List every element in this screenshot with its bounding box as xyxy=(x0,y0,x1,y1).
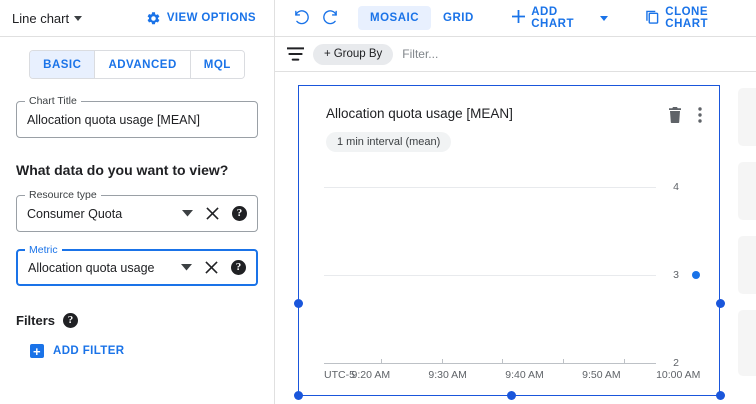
dashboard-area: MOSAIC GRID ADD CHART CLONE CHART xyxy=(275,0,756,404)
chart-plot-area: 4 3 2 UTC-5 9:20 AM xyxy=(299,167,719,367)
x-axis-label-0: 9:20 AM xyxy=(352,369,391,381)
chart-card-header: Allocation quota usage [MEAN] xyxy=(299,86,719,123)
x-axis-label-2: 9:40 AM xyxy=(505,369,544,381)
x-axis-label-1: 9:30 AM xyxy=(428,369,467,381)
chart-title-input[interactable]: Allocation quota usage [MEAN] xyxy=(27,113,247,127)
metric-field-wrap: Metric Allocation quota usage ? xyxy=(0,249,274,286)
add-chart-label: ADD CHART xyxy=(531,6,594,30)
x-tick-mark xyxy=(502,359,503,363)
resource-type-icons: ? xyxy=(182,206,247,221)
gridline-3 xyxy=(324,275,656,276)
y-axis-tick-3: 3 xyxy=(673,269,679,281)
resource-type-label: Resource type xyxy=(25,189,101,201)
data-question-heading: What data do you want to view? xyxy=(0,162,274,178)
gridline-4 xyxy=(324,187,656,188)
resize-handle-bottom-left[interactable] xyxy=(294,391,303,400)
plus-icon: + xyxy=(30,344,44,358)
chart-card-title: Allocation quota usage [MEAN] xyxy=(326,106,668,121)
trash-icon[interactable] xyxy=(668,107,682,123)
help-icon[interactable]: ? xyxy=(231,260,246,275)
editor-panel-header: Line chart VIEW OPTIONS xyxy=(0,0,274,37)
tab-mql[interactable]: MQL xyxy=(191,51,244,78)
chart-title-field-wrap: Chart Title Allocation quota usage [MEAN… xyxy=(0,101,274,138)
resize-handle-bottom-right[interactable] xyxy=(716,391,725,400)
plus-icon xyxy=(512,10,525,26)
chevron-down-icon[interactable] xyxy=(182,210,193,217)
undo-icon[interactable] xyxy=(289,4,314,32)
filters-section-header: Filters ? xyxy=(0,313,274,328)
metric-label: Metric xyxy=(25,244,62,256)
offscreen-card xyxy=(738,88,756,146)
close-icon[interactable] xyxy=(206,207,219,220)
close-icon[interactable] xyxy=(205,261,218,274)
tab-basic[interactable]: BASIC xyxy=(30,51,95,78)
offscreen-card xyxy=(738,162,756,220)
editor-tabs: BASIC ADVANCED MQL xyxy=(0,37,274,79)
resource-type-field-wrap: Resource type Consumer Quota ? xyxy=(0,195,274,232)
help-icon[interactable]: ? xyxy=(232,206,247,221)
timezone-label: UTC-5 xyxy=(324,369,355,381)
x-tick-mark xyxy=(624,359,625,363)
x-tick-mark xyxy=(563,359,564,363)
chart-type-label: Line chart xyxy=(12,11,69,26)
gear-icon xyxy=(146,11,161,26)
offscreen-card-stack xyxy=(738,72,756,404)
filters-heading: Filters xyxy=(16,313,55,328)
layout-mosaic-button[interactable]: MOSAIC xyxy=(358,6,431,30)
metric-field[interactable]: Metric Allocation quota usage ? xyxy=(16,249,258,286)
interval-chip: 1 min interval (mean) xyxy=(326,132,451,152)
x-tick-mark xyxy=(442,359,443,363)
add-filter-button[interactable]: + ADD FILTER xyxy=(0,344,274,358)
view-options-button[interactable]: VIEW OPTIONS xyxy=(146,11,262,26)
chart-canvas: Allocation quota usage [MEAN] xyxy=(275,72,756,404)
x-axis-label-4: 10:00 AM xyxy=(656,369,700,381)
chevron-down-icon xyxy=(600,16,608,21)
layout-grid-button[interactable]: GRID xyxy=(431,6,486,30)
dashboard-toolbar: MOSAIC GRID ADD CHART CLONE CHART xyxy=(275,0,756,37)
metric-value[interactable]: Allocation quota usage xyxy=(28,261,181,275)
add-filter-label: ADD FILTER xyxy=(53,345,125,357)
resource-type-field[interactable]: Resource type Consumer Quota ? xyxy=(16,195,258,232)
clone-chart-button[interactable]: CLONE CHART xyxy=(634,0,756,36)
help-icon[interactable]: ? xyxy=(63,313,78,328)
resize-handle-right[interactable] xyxy=(716,299,725,308)
resize-handle-bottom-center[interactable] xyxy=(507,391,516,400)
chevron-down-icon[interactable] xyxy=(181,264,192,271)
view-options-label: VIEW OPTIONS xyxy=(167,12,256,24)
more-vert-icon[interactable] xyxy=(698,107,702,123)
chart-title-field[interactable]: Chart Title Allocation quota usage [MEAN… xyxy=(16,101,258,138)
chart-type-dropdown[interactable]: Line chart xyxy=(12,11,82,26)
metric-icons: ? xyxy=(181,260,246,275)
editor-tab-group: BASIC ADVANCED MQL xyxy=(29,50,245,79)
plus-icon: + xyxy=(324,48,331,60)
group-by-chip[interactable]: + Group By xyxy=(313,44,393,65)
chart-data-point[interactable] xyxy=(692,271,700,279)
offscreen-card xyxy=(738,236,756,294)
filter-list-icon[interactable] xyxy=(287,47,304,61)
resource-type-value[interactable]: Consumer Quota xyxy=(27,207,182,221)
y-axis-tick-4: 4 xyxy=(673,181,679,193)
y-axis-tick-2: 2 xyxy=(673,357,679,369)
x-axis-label-3: 9:50 AM xyxy=(582,369,621,381)
clone-chart-label: CLONE CHART xyxy=(665,6,744,30)
filter-input[interactable]: Filter... xyxy=(402,47,438,61)
copy-icon xyxy=(646,10,659,27)
add-chart-button[interactable]: ADD CHART xyxy=(500,0,620,36)
chart-title-label: Chart Title xyxy=(25,95,81,107)
tab-advanced[interactable]: ADVANCED xyxy=(95,51,190,78)
x-axis-line xyxy=(324,363,656,364)
chart-card[interactable]: Allocation quota usage [MEAN] xyxy=(298,85,720,396)
group-by-label: Group By xyxy=(334,48,383,60)
resize-handle-left[interactable] xyxy=(294,299,303,308)
offscreen-card xyxy=(738,310,756,376)
redo-icon[interactable] xyxy=(318,4,343,32)
filter-bar: + Group By Filter... xyxy=(275,37,756,72)
x-tick-mark xyxy=(381,359,382,363)
chevron-down-icon xyxy=(74,16,82,21)
dashboard-editor: Line chart VIEW OPTIONS BASIC ADVANCED M… xyxy=(0,0,756,404)
chart-editor-panel: Line chart VIEW OPTIONS BASIC ADVANCED M… xyxy=(0,0,275,404)
chart-card-actions xyxy=(668,106,702,123)
